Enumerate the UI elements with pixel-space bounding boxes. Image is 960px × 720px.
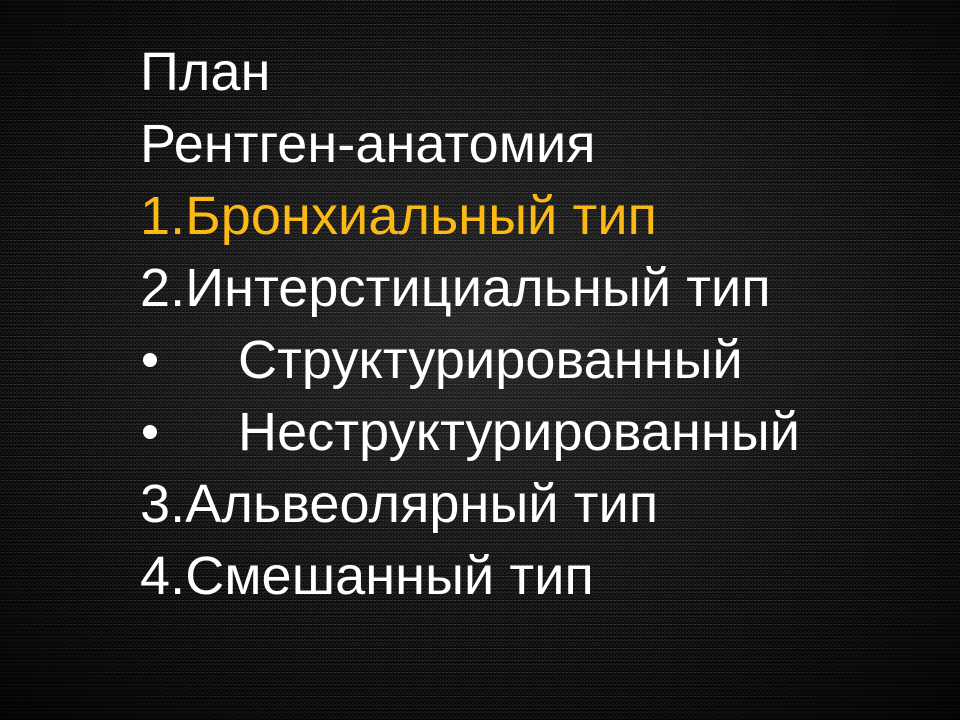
slide-text-block: План Рентген-анатомия 1.Бронхиальный тип… — [140, 36, 940, 612]
slide-title: План — [140, 36, 940, 108]
list-item-alveolar-type: 3.Альвеолярный тип — [140, 468, 940, 540]
list-item-unstructured: Неструктурированный — [140, 396, 940, 468]
presentation-slide: План Рентген-анатомия 1.Бронхиальный тип… — [0, 0, 960, 720]
bullet-dot-icon — [143, 353, 157, 367]
list-item-structured-label: Структурированный — [238, 330, 743, 390]
slide-subtitle: Рентген-анатомия — [140, 108, 940, 180]
list-item-interstitial-type: 2.Интерстициальный тип — [140, 252, 940, 324]
list-item-unstructured-label: Неструктурированный — [238, 402, 800, 462]
list-item-structured: Структурированный — [140, 324, 940, 396]
bullet-dot-icon — [143, 425, 157, 439]
list-item-mixed-type: 4.Смешанный тип — [140, 540, 940, 612]
list-item-bronchial-type: 1.Бронхиальный тип — [140, 180, 940, 252]
